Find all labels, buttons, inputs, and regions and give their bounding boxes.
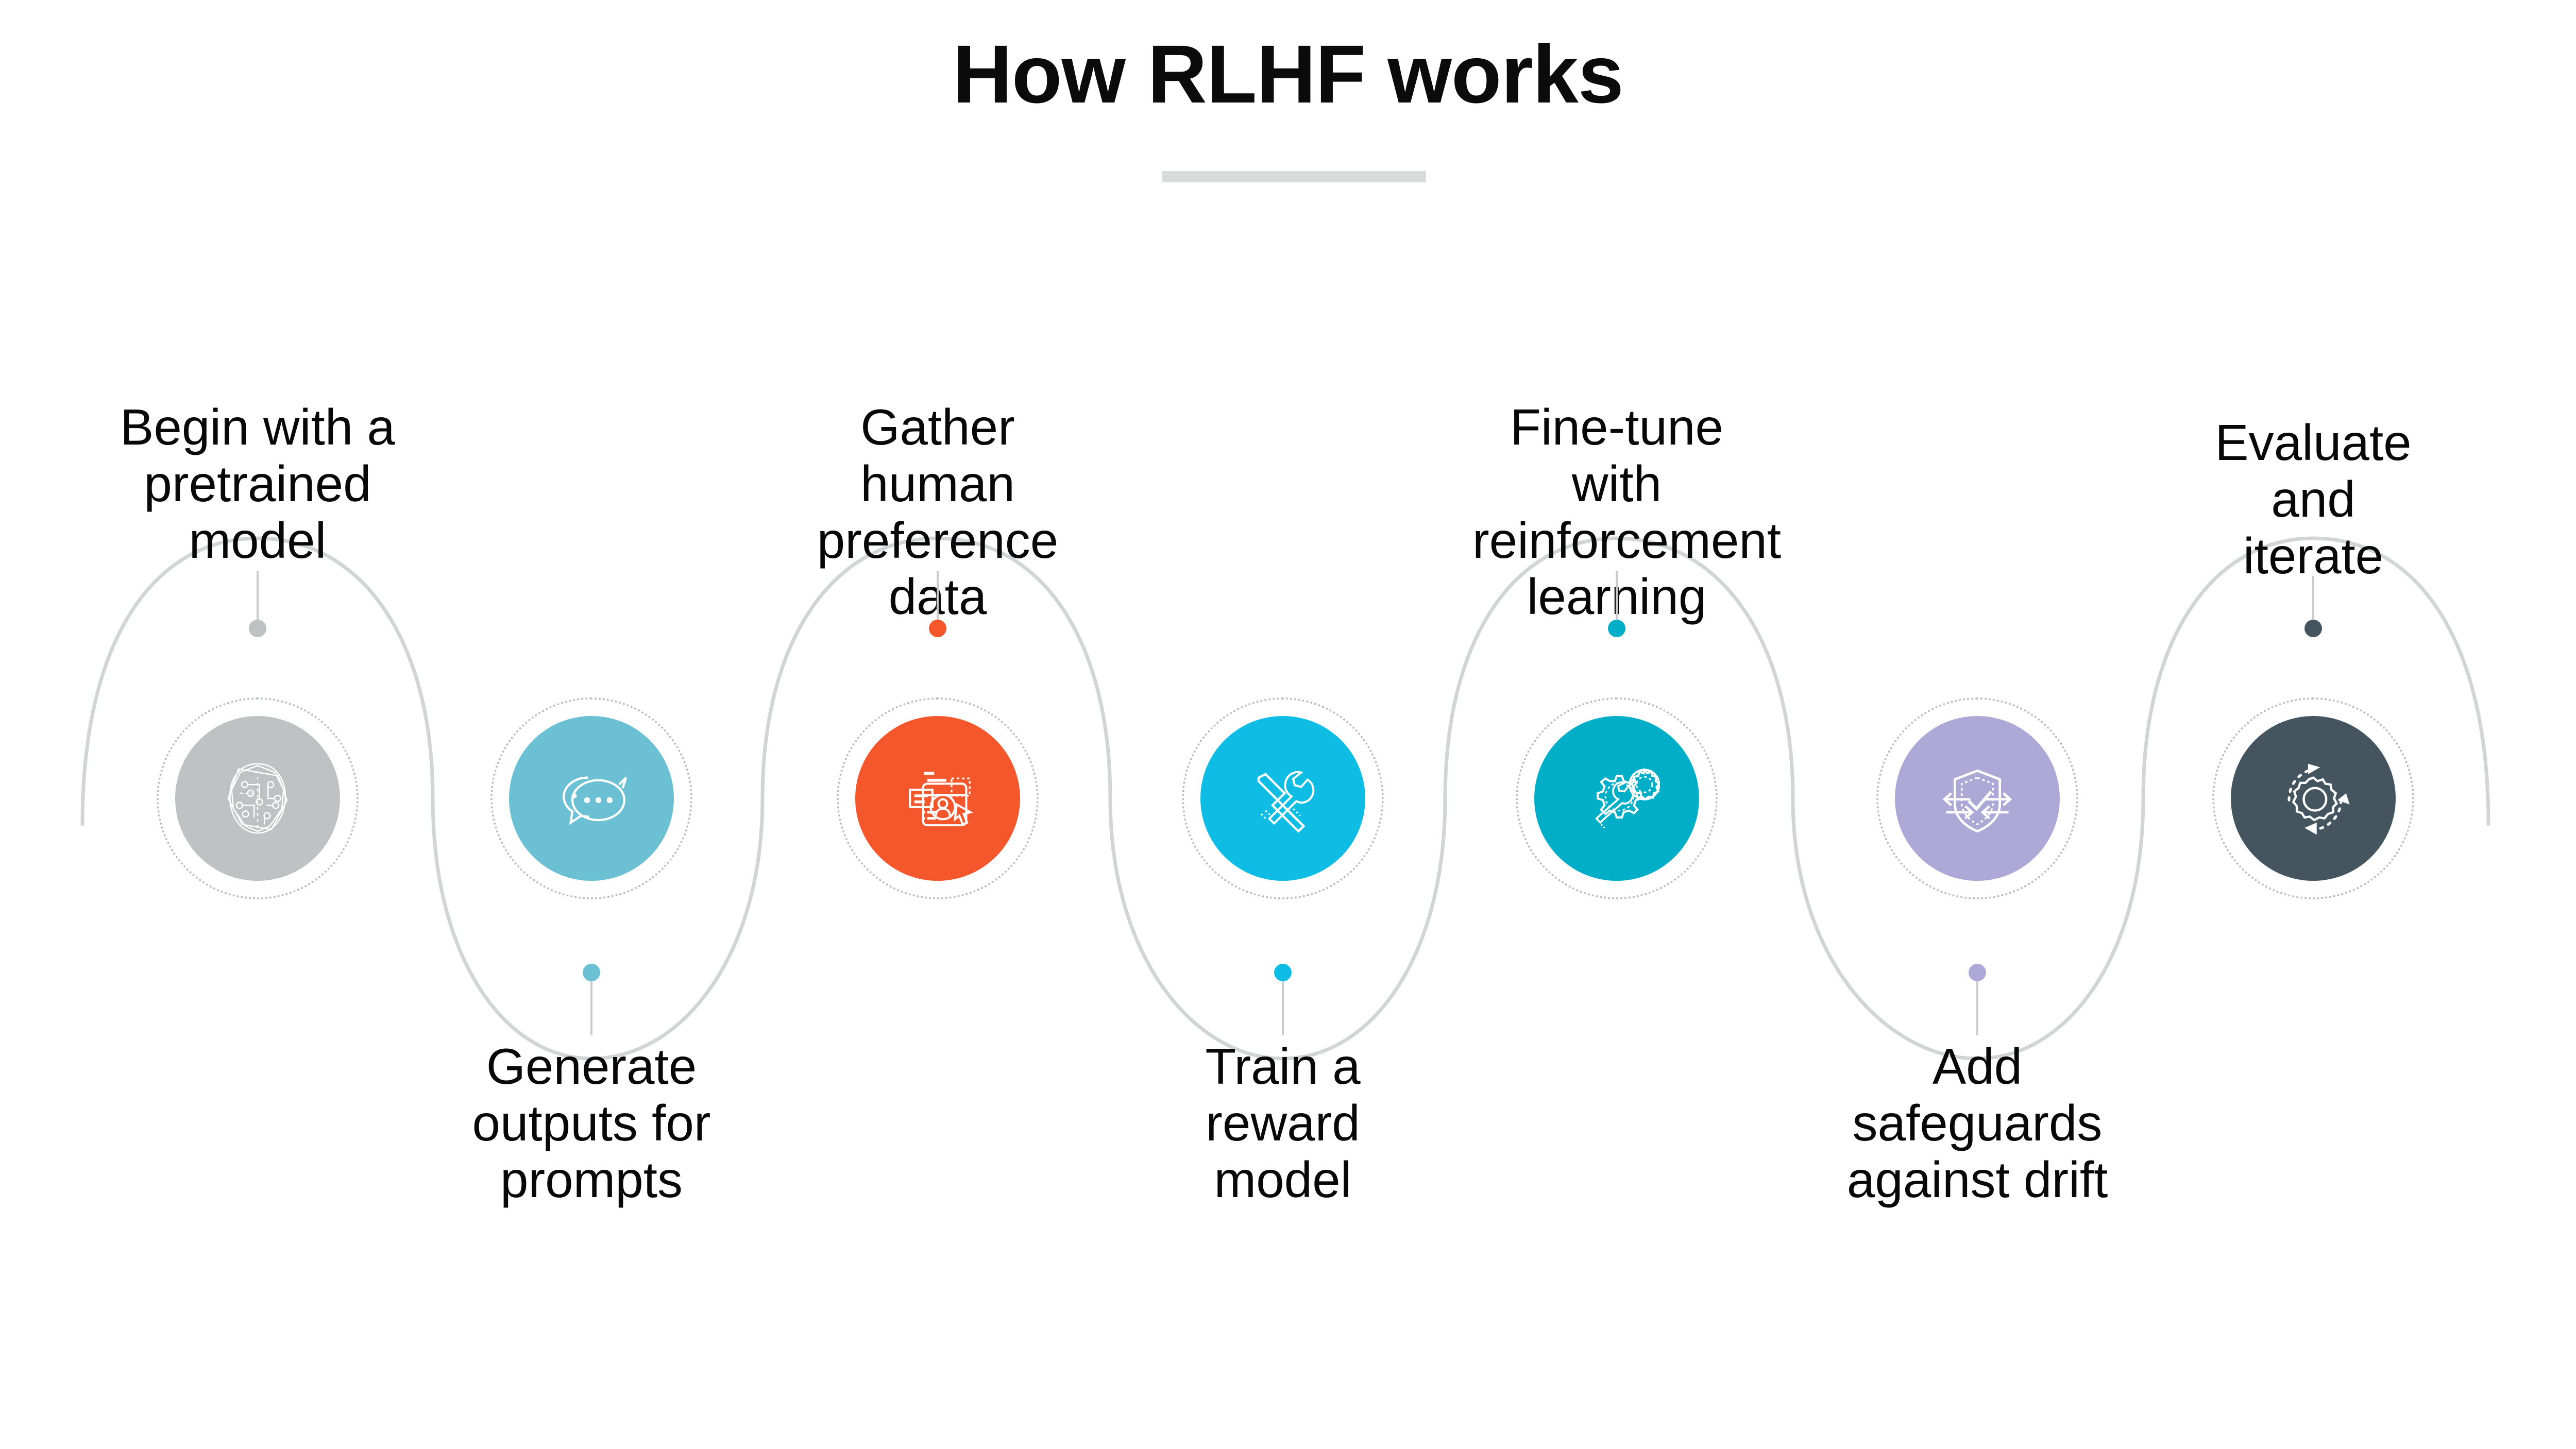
step-3-node-dot — [929, 620, 946, 637]
title-divider — [1162, 171, 1426, 182]
step-3-connector-stem — [937, 571, 939, 626]
wrench-screwdriver-icon — [1240, 755, 1326, 842]
step-6-icon-disc[interactable] — [1895, 716, 2060, 881]
step-4-icon-disc[interactable] — [1200, 716, 1365, 881]
step-1-connector-stem — [257, 571, 259, 626]
step-1-icon-disc[interactable] — [175, 716, 340, 881]
step-3-icon-disc[interactable] — [855, 716, 1020, 881]
step-4-node-dot — [1274, 964, 1292, 981]
infographic-canvas: How RLHF works Begin with a pretrained m… — [0, 0, 2576, 1449]
step-7-label: Evaluate and iterate — [2169, 415, 2458, 584]
step-7-icon-disc[interactable] — [2231, 716, 2396, 881]
feedback-form-cursor-icon — [894, 755, 981, 842]
step-2-icon-disc[interactable] — [509, 716, 674, 881]
shield-check-arrows-icon — [1934, 755, 2021, 842]
step-5-icon-disc[interactable] — [1534, 716, 1699, 881]
step-4-label: Train a reward model — [1139, 1038, 1427, 1208]
step-1-node-dot — [249, 620, 266, 637]
step-6-label: Add safeguards against drift — [1833, 1038, 2122, 1208]
step-6-connector-stem — [1976, 981, 1978, 1035]
step-4-connector-stem — [1282, 981, 1284, 1035]
brain-circuit-icon — [214, 755, 301, 842]
step-1-label: Begin with a pretrained model — [113, 399, 402, 569]
step-7-connector-stem — [2312, 576, 2314, 626]
step-5-node-dot — [1608, 620, 1625, 637]
gear-cycle-icon — [2270, 755, 2357, 842]
step-6-node-dot — [1969, 964, 1986, 981]
step-5-connector-stem — [1616, 571, 1618, 626]
page-title: How RLHF works — [0, 31, 2576, 117]
step-2-label: Generate outputs for prompts — [447, 1038, 736, 1208]
gears-wrench-icon — [1573, 755, 1660, 842]
step-7-node-dot — [2304, 620, 2322, 637]
step-2-connector-stem — [590, 981, 592, 1035]
step-2-node-dot — [583, 964, 600, 981]
chat-bubbles-icon — [548, 755, 635, 842]
